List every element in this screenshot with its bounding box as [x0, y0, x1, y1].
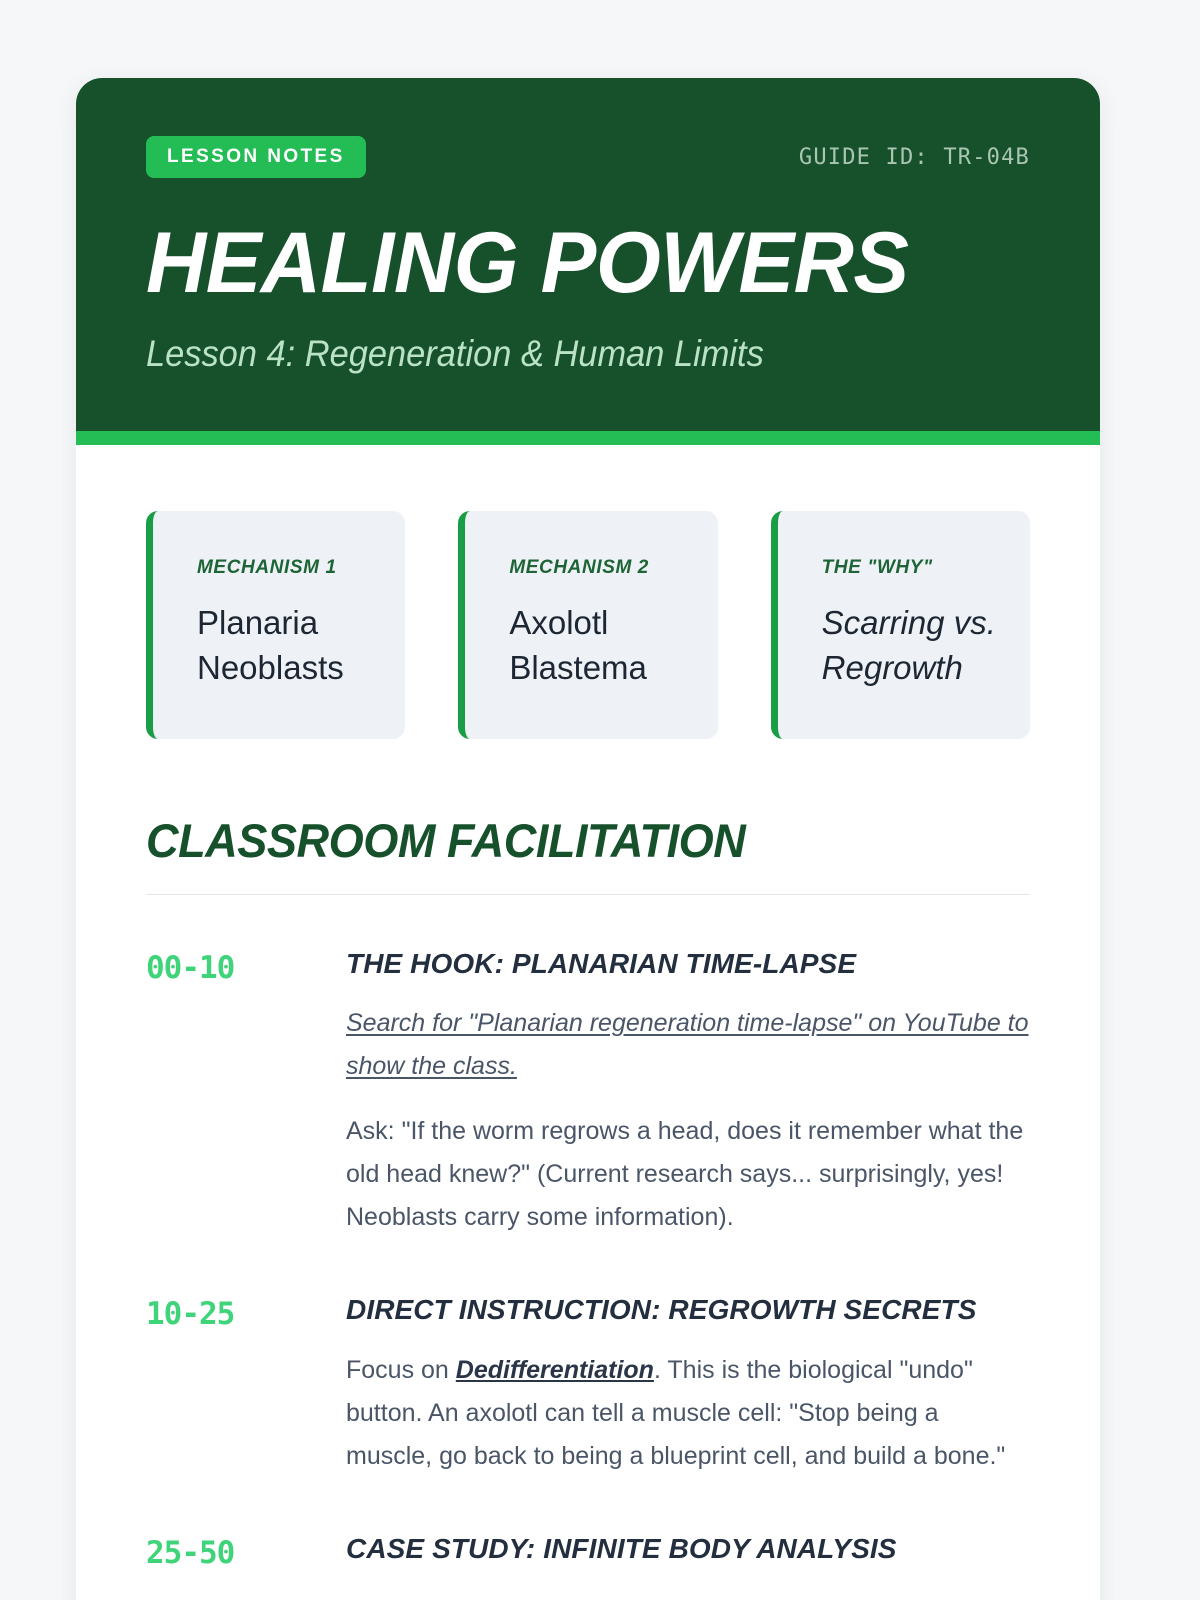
header-accent-bar: [76, 431, 1100, 445]
mechanism-card-title: Scarring vs. Regrowth: [822, 601, 1000, 691]
timeline-time: 10-25: [146, 1293, 346, 1335]
timeline-content: CASE STUDY: INFINITE BODY ANALYSIS: [346, 1532, 1030, 1588]
timeline-title: CASE STUDY: INFINITE BODY ANALYSIS: [346, 1532, 1030, 1566]
timeline-title: THE HOOK: PLANARIAN TIME-LAPSE: [346, 947, 1030, 981]
timeline-content: DIRECT INSTRUCTION: REGROWTH SECRETS Foc…: [346, 1293, 1030, 1478]
page-subtitle: Lesson 4: Regeneration & Human Limits: [146, 333, 968, 376]
mechanism-card-title: Axolotl Blastema: [509, 601, 687, 691]
mechanism-card: MECHANISM 1 Planaria Neoblasts: [146, 511, 405, 739]
mechanism-card: MECHANISM 2 Axolotl Blastema: [458, 511, 717, 739]
mechanism-card: THE "WHY" Scarring vs. Regrowth: [771, 511, 1030, 739]
timeline-key-term: Dedifferentiation: [456, 1356, 654, 1384]
page-title: HEALING POWERS: [146, 222, 1003, 305]
mechanism-card-label: THE "WHY": [822, 557, 1000, 579]
timeline-entry: 25-50 CASE STUDY: INFINITE BODY ANALYSIS: [146, 1532, 1030, 1588]
timeline-body: Ask: "If the worm regrows a head, does i…: [346, 1110, 1030, 1239]
timeline-resource-link[interactable]: Search for "Planarian regeneration time-…: [346, 1002, 1030, 1088]
timeline-content: THE HOOK: PLANARIAN TIME-LAPSE Search fo…: [346, 947, 1030, 1240]
mechanism-card-group: MECHANISM 1 Planaria Neoblasts MECHANISM…: [146, 511, 1030, 739]
timeline-entry: 10-25 DIRECT INSTRUCTION: REGROWTH SECRE…: [146, 1293, 1030, 1478]
mechanism-card-label: MECHANISM 2: [509, 557, 687, 579]
section-divider: [146, 894, 1030, 895]
mechanism-card-title: Planaria Neoblasts: [197, 601, 375, 691]
timeline-entry: 00-10 THE HOOK: PLANARIAN TIME-LAPSE Sea…: [146, 947, 1030, 1240]
lesson-note-sheet: LESSON NOTES GUIDE ID: TR-04B HEALING PO…: [76, 78, 1100, 1600]
page-root: LESSON NOTES GUIDE ID: TR-04B HEALING PO…: [0, 0, 1200, 1600]
sheet-body: MECHANISM 1 Planaria Neoblasts MECHANISM…: [76, 445, 1100, 1588]
header-banner: LESSON NOTES GUIDE ID: TR-04B HEALING PO…: [76, 78, 1100, 431]
section-heading: CLASSROOM FACILITATION: [146, 817, 995, 864]
guide-id-label: GUIDE ID: TR-04B: [799, 145, 1030, 170]
lesson-notes-badge: LESSON NOTES: [146, 136, 366, 178]
timeline-title: DIRECT INSTRUCTION: REGROWTH SECRETS: [346, 1293, 1030, 1327]
header-top-row: LESSON NOTES GUIDE ID: TR-04B: [146, 136, 1030, 178]
timeline-time: 25-50: [146, 1532, 346, 1574]
mechanism-card-label: MECHANISM 1: [197, 557, 375, 579]
timeline-body-prefix: Focus on: [346, 1356, 456, 1384]
timeline-time: 00-10: [146, 947, 346, 989]
timeline-body: Focus on Dedifferentiation. This is the …: [346, 1349, 1030, 1478]
